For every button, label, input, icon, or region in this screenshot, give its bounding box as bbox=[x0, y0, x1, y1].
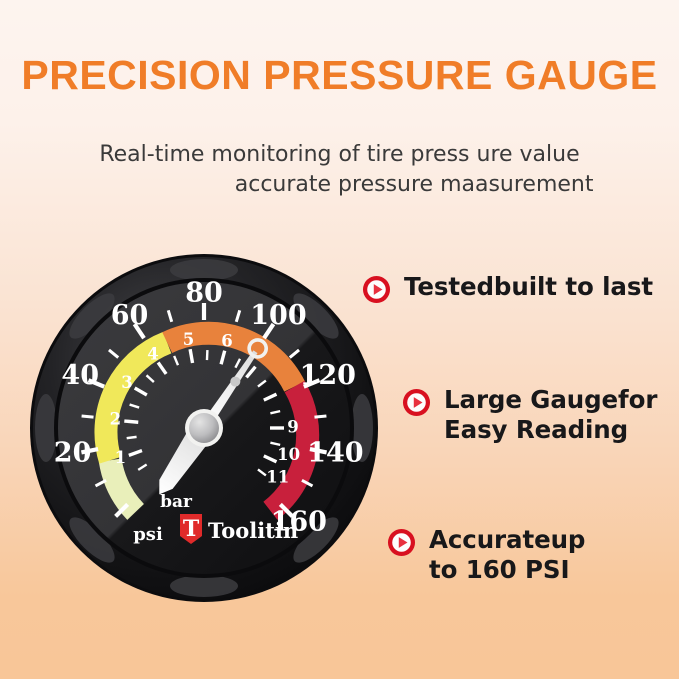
svg-text:4: 4 bbox=[147, 345, 158, 364]
play-circle-icon bbox=[362, 275, 391, 304]
feature-bullet-label: Testedbuilt to last bbox=[404, 272, 653, 302]
svg-text:60: 60 bbox=[111, 300, 149, 331]
svg-text:3: 3 bbox=[121, 373, 132, 392]
subtitle-line-2: accurate pressure maasurement bbox=[80, 170, 600, 200]
feature-bullet-3: Accurateup to 160 PSI bbox=[387, 525, 585, 585]
svg-text:11: 11 bbox=[266, 467, 289, 486]
svg-text:80: 80 bbox=[185, 278, 223, 309]
feature-bullet-2: Large Gaugefor Easy Reading bbox=[402, 385, 657, 445]
svg-text:140: 140 bbox=[307, 438, 363, 469]
svg-text:6: 6 bbox=[221, 332, 232, 351]
product-marketing-image: PRECISION PRESSURE GAUGE Real-time monit… bbox=[0, 0, 679, 679]
page-subtitle: Real-time monitoring of tire press ure v… bbox=[80, 140, 600, 199]
feature-bullet-label: Accurateup to 160 PSI bbox=[429, 525, 585, 585]
pressure-gauge-illustration: 20 40 60 80 100 120 140 160 bbox=[28, 252, 380, 604]
page-title: PRECISION PRESSURE GAUGE bbox=[0, 52, 679, 99]
feature-bullet-1: Testedbuilt to last bbox=[362, 272, 653, 304]
svg-text:2: 2 bbox=[110, 410, 121, 429]
unit-psi-label: psi bbox=[133, 524, 163, 545]
svg-text:T: T bbox=[183, 516, 200, 542]
svg-text:20: 20 bbox=[54, 438, 92, 469]
play-circle-icon bbox=[402, 388, 431, 417]
svg-text:9: 9 bbox=[287, 418, 298, 437]
svg-text:10: 10 bbox=[277, 445, 300, 464]
gauge-pivot bbox=[185, 409, 223, 447]
toolitin-shield-logo: T bbox=[180, 514, 202, 544]
svg-text:120: 120 bbox=[300, 360, 356, 391]
unit-bar-label: bar bbox=[160, 492, 193, 512]
brand-name: Toolitin bbox=[208, 518, 298, 543]
svg-text:100: 100 bbox=[250, 300, 306, 331]
play-circle-icon bbox=[387, 528, 416, 557]
svg-text:5: 5 bbox=[183, 330, 194, 349]
svg-text:1: 1 bbox=[115, 448, 126, 467]
feature-bullet-label: Large Gaugefor Easy Reading bbox=[444, 385, 657, 445]
svg-text:40: 40 bbox=[61, 360, 99, 391]
subtitle-line-1: Real-time monitoring of tire press ure v… bbox=[80, 140, 600, 170]
